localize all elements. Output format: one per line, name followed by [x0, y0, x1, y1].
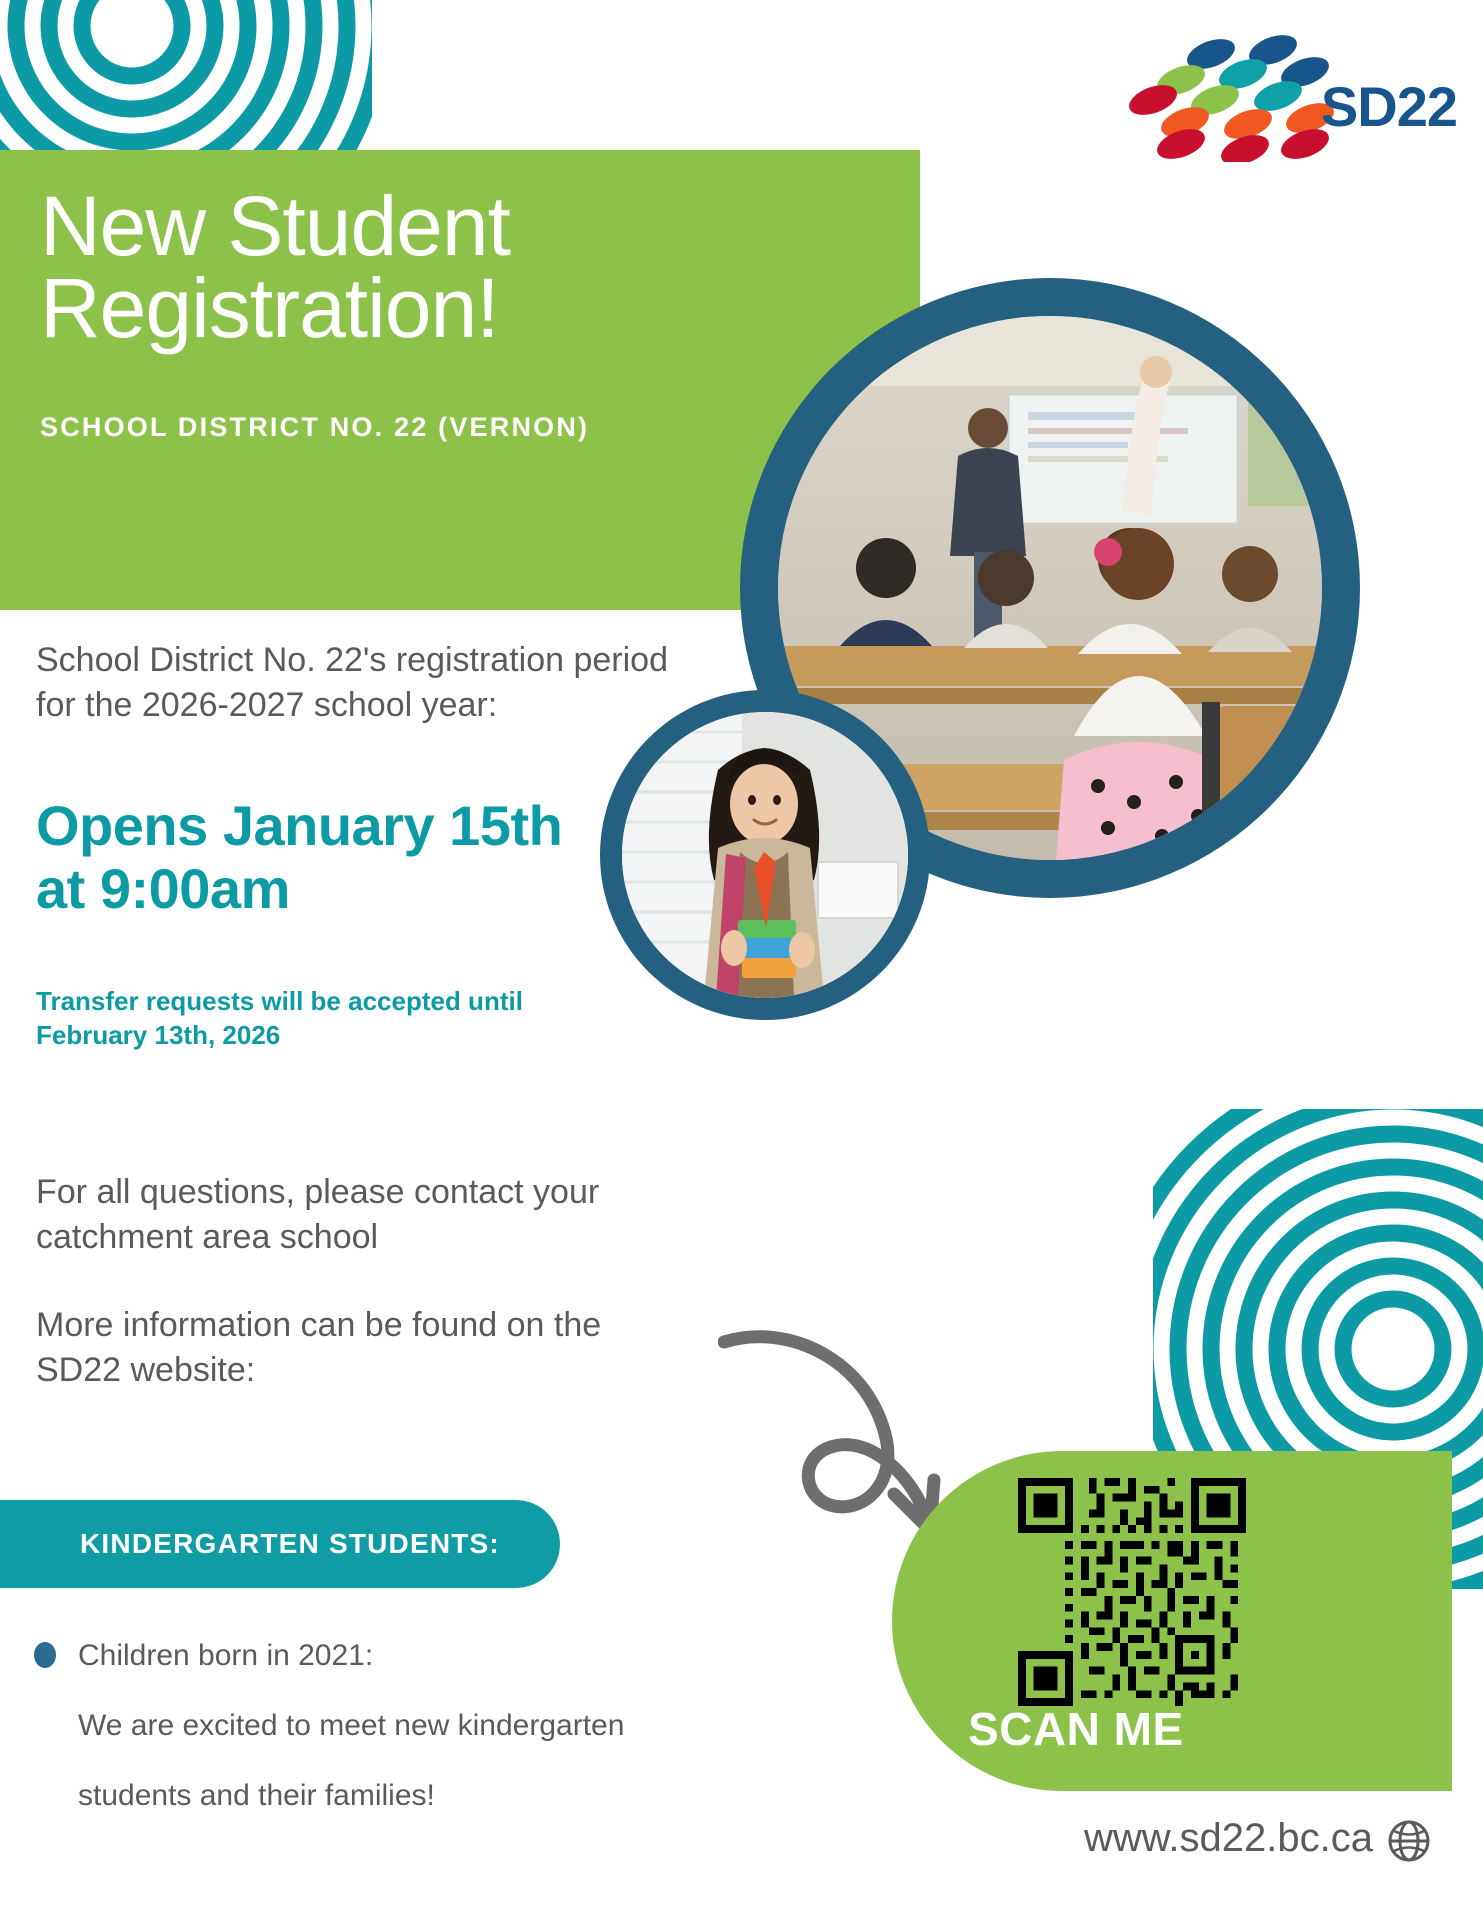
kindergarten-bullet-body-line-2: students and their families! — [78, 1776, 435, 1815]
district-subheading: SCHOOL DISTRICT NO. 22 (VERNON) — [40, 412, 589, 443]
qr-code-icon[interactable] — [1018, 1478, 1246, 1706]
sd22-logo: SD22 — [1113, 22, 1463, 162]
kindergarten-pill-label: KINDERGARTEN STUDENTS: — [80, 1528, 500, 1560]
kindergarten-bullet-body-line-1: We are excited to meet new kindergarten — [78, 1706, 624, 1745]
bullet-dot-icon — [34, 1642, 56, 1668]
contact-paragraph: For all questions, please contact your c… — [36, 1170, 636, 1260]
headline-line-2: Registration! — [40, 267, 740, 349]
scan-me-label: SCAN ME — [968, 1702, 1298, 1756]
headline-line-1: New Student — [40, 185, 740, 267]
website-url[interactable]: www.sd22.bc.ca — [1084, 1816, 1373, 1861]
more-info-paragraph: More information can be found on the SD2… — [36, 1303, 636, 1393]
transfer-deadline-note: Transfer requests will be accepted until… — [36, 985, 636, 1053]
opens-date-heading: Opens January 15th at 9:00am — [36, 795, 596, 920]
kindergarten-bullet-heading: Children born in 2021: — [78, 1636, 373, 1675]
poster-canvas: SD22 New Student Registration! SCHOOL DI… — [0, 0, 1483, 1919]
page-title: New Student Registration! — [40, 185, 740, 350]
intro-paragraph: School District No. 22's registration pe… — [36, 638, 676, 728]
student-photo-art — [622, 712, 908, 998]
globe-icon — [1387, 1819, 1431, 1863]
sd22-logo-text: SD22 — [1321, 74, 1457, 139]
qr-code[interactable] — [1018, 1478, 1246, 1706]
student-with-backpack-and-books-photo — [622, 712, 908, 998]
